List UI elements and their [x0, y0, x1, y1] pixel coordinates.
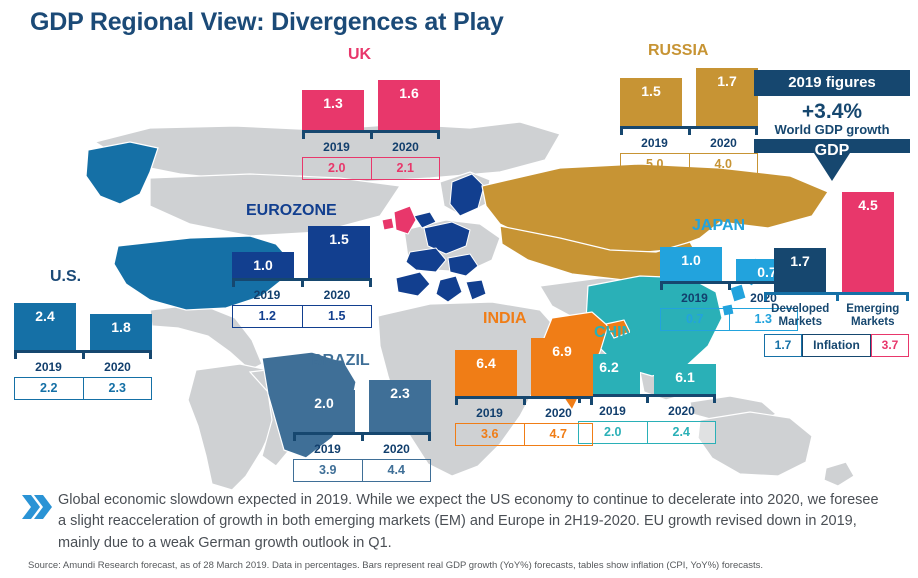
axis-india	[455, 396, 593, 405]
inflation-table-brazil: 3.9 4.4	[293, 459, 431, 482]
inflation-eurozone-2019: 1.2	[233, 306, 302, 327]
inflation-table-uk: 2.0 2.1	[302, 157, 440, 180]
axis-china	[578, 394, 716, 403]
bar-developed-markets: 1.7	[774, 248, 826, 292]
year-labels-china: 2019 2020	[578, 404, 716, 418]
bar-brazil-2019: 2.0	[293, 390, 355, 432]
region-label-brazil: BRAZIL	[311, 352, 370, 370]
world-gdp-growth-label: World GDP growth	[754, 123, 910, 138]
year-labels-russia: 2019 2020	[620, 136, 758, 150]
double-chevron-icon	[22, 494, 52, 525]
bar-japan-2019: 1.0	[660, 247, 722, 281]
year-us-2020: 2020	[83, 360, 152, 374]
year-japan-2019: 2019	[660, 291, 729, 305]
inflation-table-india: 3.6 4.7	[455, 423, 593, 446]
axis-uk	[302, 130, 440, 139]
bar-uk-2019: 1.3	[302, 90, 364, 130]
world-gdp-growth-value: +3.4%	[754, 101, 910, 123]
category-developed-line2: Markets	[779, 316, 822, 328]
category-developed-line1: Developed	[771, 303, 829, 315]
inflation-us-2019: 2.2	[15, 378, 83, 399]
inflation-russia-2020: 4.0	[689, 154, 758, 175]
year-brazil-2019: 2019	[293, 442, 362, 456]
bar-india-2019: 6.4	[455, 350, 517, 396]
figures-box-header: 2019 figures	[754, 70, 910, 96]
gdp-arrow: GDP	[754, 139, 910, 181]
markets-panel: 1.7 4.5 Developed Markets Emerging Marke…	[764, 182, 909, 357]
year-eurozone-2019: 2019	[232, 288, 302, 302]
year-russia-2019: 2019	[620, 136, 689, 150]
year-india-2019: 2019	[455, 406, 524, 420]
inflation-table-russia: 5.0 4.0	[620, 153, 758, 176]
year-labels-uk: 2019 2020	[302, 140, 440, 154]
region-panel-russia: RUSSIA 1.5 1.7 2019 2020 5.0 4.0	[620, 68, 758, 176]
category-emerging-markets: Emerging Markets	[837, 303, 910, 329]
category-developed-markets: Developed Markets	[764, 303, 837, 329]
region-label-japan: JAPAN	[692, 217, 745, 235]
region-label-china: CHINA	[594, 324, 645, 342]
inflation-uk-2020: 2.1	[371, 158, 440, 179]
bar-russia-2019: 1.5	[620, 78, 682, 126]
map-region-uk	[382, 206, 416, 234]
year-labels-eurozone: 2019 2020	[232, 288, 372, 302]
inflation-row-label: Inflation	[802, 334, 871, 357]
region-panel-uk: UK 1.3 1.6 2019 2020 2.0 2.1	[302, 78, 440, 180]
bar-eurozone-2019: 1.0	[232, 252, 294, 278]
inflation-emerging-markets: 3.7	[871, 334, 909, 357]
bar-india-2020: 6.9	[531, 338, 593, 396]
source-note: Source: Amundi Research forecast, as of …	[28, 560, 908, 571]
inflation-table-china: 2.0 2.4	[578, 421, 716, 444]
axis-us	[14, 350, 152, 359]
year-uk-2019: 2019	[302, 140, 371, 154]
year-brazil-2020: 2020	[362, 442, 431, 456]
year-china-2020: 2020	[647, 404, 716, 418]
category-emerging-line1: Emerging	[846, 303, 899, 315]
bar-brazil-2020: 2.3	[369, 380, 431, 432]
region-label-uk: UK	[348, 46, 371, 64]
bar-russia-2020: 1.7	[696, 68, 758, 126]
year-eurozone-2020: 2020	[302, 288, 372, 302]
inflation-uk-2019: 2.0	[303, 158, 371, 179]
figures-box: 2019 figures +3.4% World GDP growth GDP	[754, 70, 910, 181]
region-panel-china: CHINA 6.2 6.1 2019 2020 2.0 2.4	[578, 352, 716, 444]
inflation-table-markets: 1.7 Inflation 3.7	[764, 334, 909, 357]
bar-china-2020: 6.1	[654, 364, 716, 394]
bar-emerging-markets: 4.5	[842, 192, 894, 292]
bar-us-2020: 1.8	[90, 314, 152, 350]
inflation-developed-markets: 1.7	[764, 334, 802, 357]
inflation-russia-2019: 5.0	[621, 154, 689, 175]
year-labels-brazil: 2019 2020	[293, 442, 431, 456]
gdp-arrow-label: GDP	[754, 142, 910, 160]
year-labels-india: 2019 2020	[455, 406, 593, 420]
region-panel-india: INDIA 6.4 6.9 2019 2020 3.6 4.7	[455, 340, 593, 446]
region-label-russia: RUSSIA	[648, 42, 708, 60]
region-panel-brazil: BRAZIL 2.0 2.3 2019 2020 3.9 4.4	[293, 382, 431, 482]
bar-eurozone-2020: 1.5	[308, 226, 370, 278]
inflation-india-2020: 4.7	[524, 424, 593, 445]
inflation-brazil-2020: 4.4	[362, 460, 431, 481]
inflation-japan-2019: 0.7	[661, 309, 729, 330]
bar-uk-2020: 1.6	[378, 80, 440, 130]
axis-russia	[620, 126, 758, 135]
market-category-labels: Developed Markets Emerging Markets	[764, 303, 909, 329]
inflation-eurozone-2020: 1.5	[302, 306, 372, 327]
category-emerging-line2: Markets	[851, 316, 894, 328]
region-label-eurozone: EUROZONE	[246, 202, 337, 220]
infographic-root: GDP Regional View: Divergences at Play	[0, 0, 918, 578]
region-panel-us: U.S. 2.4 1.8 2019 2020 2.2 2.3	[14, 300, 152, 400]
inflation-table-eurozone: 1.2 1.5	[232, 305, 372, 328]
axis-eurozone	[232, 278, 372, 287]
year-labels-us: 2019 2020	[14, 360, 152, 374]
inflation-table-us: 2.2 2.3	[14, 377, 152, 400]
summary-text: Global economic slowdown expected in 201…	[58, 490, 886, 554]
chevron-right-double-icon	[22, 494, 52, 520]
bar-us-2019: 2.4	[14, 303, 76, 350]
inflation-china-2020: 2.4	[647, 422, 716, 443]
year-russia-2020: 2020	[689, 136, 758, 150]
page-title: GDP Regional View: Divergences at Play	[30, 8, 504, 37]
axis-brazil	[293, 432, 431, 441]
year-uk-2020: 2020	[371, 140, 440, 154]
region-label-india: INDIA	[483, 310, 527, 328]
region-label-us: U.S.	[50, 268, 81, 286]
year-india-2020: 2020	[524, 406, 593, 420]
region-panel-eurozone: EUROZONE 1.0 1.5 2019 2020 1.2 1.5	[232, 220, 372, 328]
inflation-india-2019: 3.6	[456, 424, 524, 445]
inflation-brazil-2019: 3.9	[294, 460, 362, 481]
axis-markets	[764, 292, 909, 301]
inflation-us-2020: 2.3	[83, 378, 152, 399]
year-us-2019: 2019	[14, 360, 83, 374]
